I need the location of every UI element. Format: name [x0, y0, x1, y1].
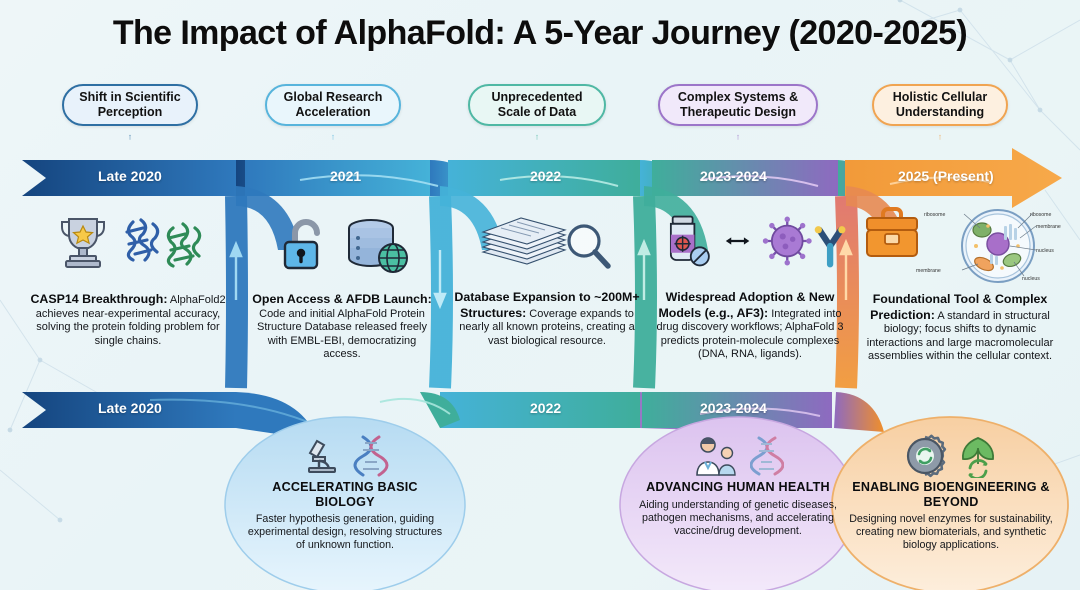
- outcome-3-body: Designing novel enzymes for sustainabili…: [848, 513, 1054, 552]
- leaf-recycle-icon: [957, 434, 999, 478]
- outcome-2-title: ADVANCING HUMAN HEALTH: [646, 480, 830, 495]
- cell-label-membrane-right: membrane: [1036, 224, 1061, 230]
- timeline-label-2022-upper: 2022: [530, 168, 561, 184]
- outcome-advancing-human-health[interactable]: ADVANCING HUMAN HEALTH Aiding understand…: [622, 424, 854, 590]
- dna-medical-icon: [750, 435, 784, 477]
- doctor-patient-icon: [692, 435, 740, 477]
- column-3-icons: [468, 212, 618, 276]
- timeline-label-2021: 2021: [330, 168, 361, 184]
- open-padlock-icon: [279, 216, 333, 274]
- cell-label-nucleus-right: nucleus: [1036, 248, 1054, 254]
- cell-label-membrane-left: membrane: [916, 268, 941, 274]
- outcome-1-title: ACCELERATING BASIC BIOLOGY: [242, 480, 448, 509]
- database-globe-icon: [341, 216, 415, 274]
- column-1-heading: CASP14 Breakthrough:: [30, 292, 167, 306]
- column-2-heading: Open Access & AFDB Launch:: [252, 292, 431, 306]
- toolbox-icon: [863, 206, 921, 262]
- column-2-text: Open Access & AFDB Launch: Code and init…: [252, 292, 432, 362]
- column-4-text: Widespread Adoption & New Models (e.g., …: [652, 290, 848, 362]
- outcome-1-body: Faster hypothesis generation, guiding ex…: [242, 513, 448, 552]
- timeline-label-late-2020-upper: Late 2020: [98, 168, 162, 184]
- cell-label-ribosome-right: ribosome: [1030, 212, 1051, 218]
- dna-helix-icon: [353, 434, 389, 478]
- timeline-label-2023-2024-upper: 2023-2024: [700, 168, 767, 184]
- column-1-icons: [55, 212, 215, 270]
- outcome-2-body: Aiding understanding of genetic diseases…: [636, 499, 840, 538]
- cell-label-nucleus-bottom: nucleus: [1022, 276, 1040, 282]
- outcome-2-icons: [692, 434, 784, 478]
- column-1-text: CASP14 Breakthrough: AlphaFold2 achieves…: [28, 292, 228, 348]
- outcome-accelerating-basic-biology[interactable]: ACCELERATING BASIC BIOLOGY Faster hypoth…: [228, 424, 462, 590]
- gear-recycle-icon: [903, 434, 947, 478]
- timeline-label-2022-lower: 2022: [530, 400, 561, 416]
- virus-icon: [761, 212, 814, 270]
- cell-label-ribosome-left: ribosome: [924, 212, 945, 218]
- timeline-label-late-2020-lower: Late 2020: [98, 400, 162, 416]
- outcome-1-icons: [301, 434, 389, 478]
- timeline-label-2023-2024-lower: 2023-2024: [700, 400, 767, 416]
- timeline-label-2025-present: 2025 (Present): [898, 168, 994, 184]
- infographic-stage: The Impact of AlphaFold: A 5-Year Journe…: [0, 0, 1080, 590]
- column-5-text: Foundational Tool & Complex Prediction: …: [856, 292, 1064, 364]
- outcome-3-title: ENABLING BIOENGINEERING & BEYOND: [848, 480, 1054, 509]
- column-4-icons: [660, 210, 850, 272]
- column-3-text: Database Expansion to ~200M+ Structures:…: [452, 290, 642, 348]
- magnifier-icon: [563, 220, 613, 276]
- drug-vial-icon: [660, 210, 714, 272]
- antibody-icon: [812, 222, 850, 272]
- column-2-body: Code and initial AlphaFold Protein Struc…: [257, 308, 427, 361]
- outcome-3-icons: [903, 434, 999, 478]
- bidirectional-arrow-icon: [724, 231, 751, 251]
- microscope-icon: [301, 435, 343, 477]
- outcome-enabling-bioengineering-beyond[interactable]: ENABLING BIOENGINEERING & BEYOND Designi…: [834, 424, 1068, 590]
- column-2-icons: [262, 216, 432, 274]
- protein-structure-icon: [117, 212, 213, 270]
- trophy-icon: [57, 213, 109, 269]
- column-5-icons: [862, 206, 922, 262]
